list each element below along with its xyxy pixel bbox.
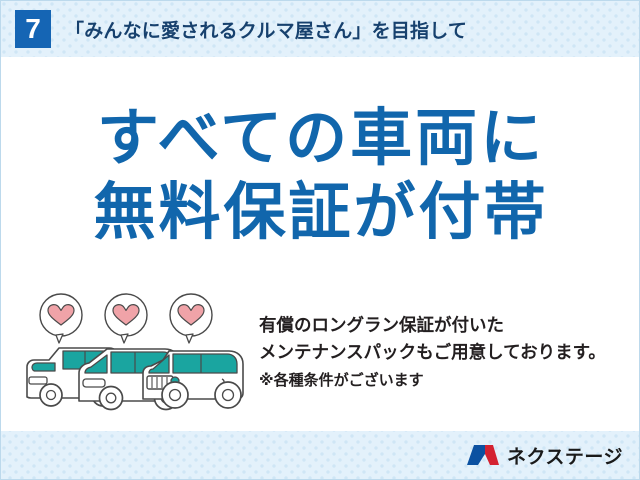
car-grille [83,379,105,387]
heart-bubble-3 [170,294,212,343]
heart-bubble-1 [40,294,82,343]
poster-footer: ネクステージ [1,431,640,479]
car-headlight [29,377,47,384]
car-window [173,354,237,373]
brand-lockup: ネクステージ [466,442,623,469]
content-panel: すべての車両に 無料保証が付帯 [1,57,640,431]
body-copy-note: ※各種条件がございます [259,367,640,393]
header-title: 「みんなに愛されるクルマ屋さん」を目指して [65,16,467,43]
body-copy-block: 有償のロングラン保証が付いた メンテナンスパックもご用意しております。 ※各種条… [259,289,640,393]
headline-block: すべての車両に 無料保証が付帯 [1,101,640,249]
body-copy-line-1: 有償のロングラン保証が付いた [259,313,640,340]
headline-line-1: すべての車両に [1,101,640,175]
car-windshield [32,363,55,371]
nextage-n-logo-icon [466,443,500,467]
body-copy-line-2: メンテナンスパックもご用意しております。 [259,340,640,367]
cars-illustration [23,289,253,419]
poster-header: 7 「みんなに愛されるクルマ屋さん」を目指して [1,1,640,57]
brand-name: ネクステージ [507,442,623,469]
advertisement-poster: 7 「みんなに愛されるクルマ屋さん」を目指して すべての車両に 無料保証が付帯 [0,0,640,480]
cars-and-hearts-svg [23,289,253,419]
heart-bubble-2 [105,294,147,343]
headline-line-2: 無料保証が付帯 [1,175,640,249]
section-number-badge: 7 [15,10,51,48]
lower-content-row: 有償のロングラン保証が付いた メンテナンスパックもご用意しております。 ※各種条… [1,289,640,419]
